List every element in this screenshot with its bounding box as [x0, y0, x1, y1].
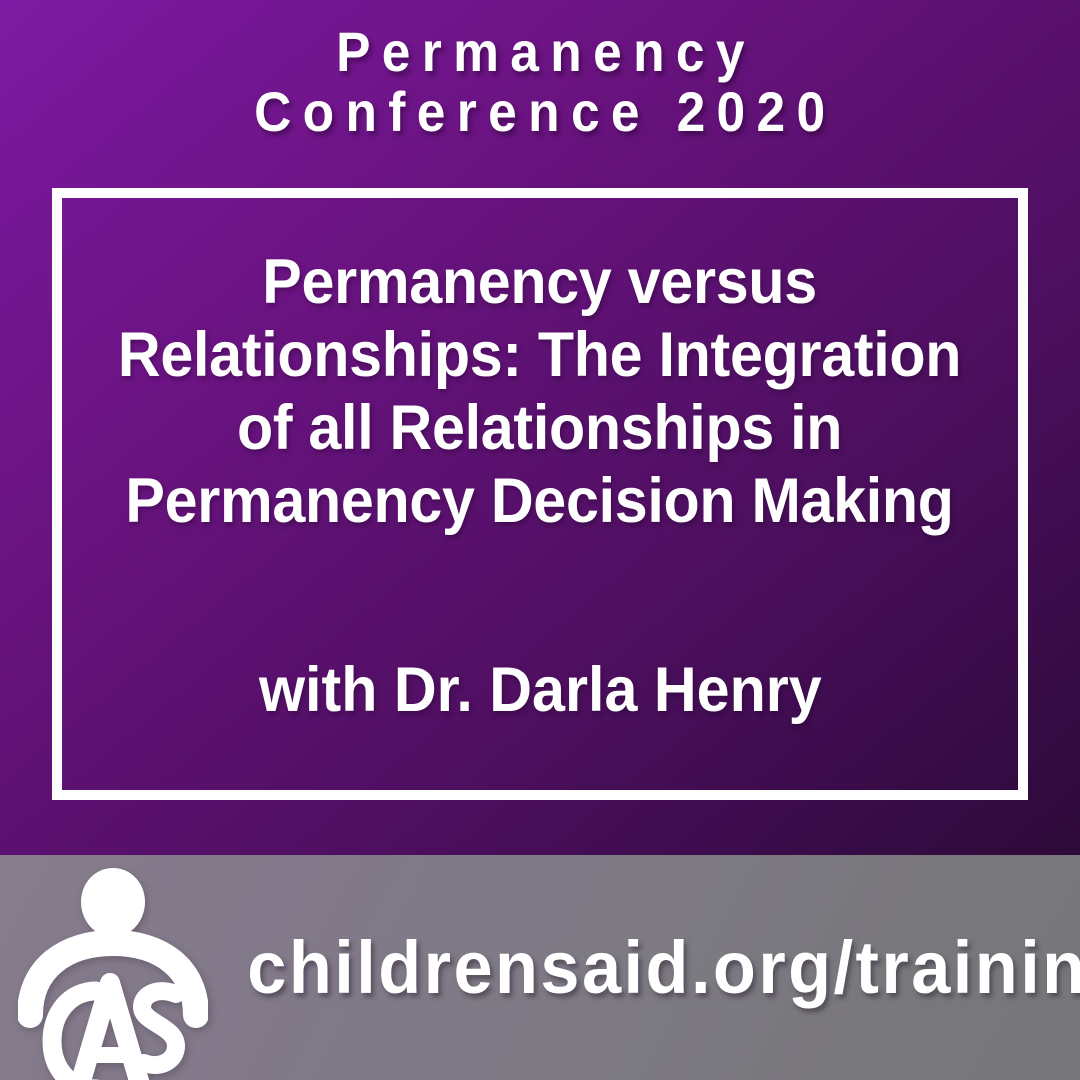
- session-title-line-2: Relationships: The Integration: [118, 319, 961, 392]
- session-frame: Permanency versus Relationships: The Int…: [52, 188, 1028, 800]
- poster-footer: childrensaid.org/training: [0, 855, 1080, 1080]
- conference-promo-poster: Permanency Conference 2020 Permanency ve…: [0, 0, 1080, 1080]
- cas-logo: [18, 855, 208, 1080]
- event-name-line2: Conference 2020: [243, 82, 837, 142]
- session-title-line-3: of all Relationships in: [118, 392, 961, 465]
- poster-header: Permanency Conference 2020: [0, 0, 1080, 180]
- presenter-name: with Dr. Darla Henry: [259, 654, 822, 727]
- footer-url[interactable]: childrensaid.org/training: [247, 931, 1080, 1005]
- childrens-aid-society-logo-icon: [18, 863, 208, 1080]
- session-frame-inner: Permanency versus Relationships: The Int…: [62, 198, 1018, 790]
- session-title: Permanency versus Relationships: The Int…: [118, 246, 961, 538]
- session-title-line-1: Permanency versus: [118, 246, 961, 319]
- session-title-line-4: Permanency Decision Making: [118, 465, 961, 538]
- event-name-line1: Permanency: [324, 22, 755, 82]
